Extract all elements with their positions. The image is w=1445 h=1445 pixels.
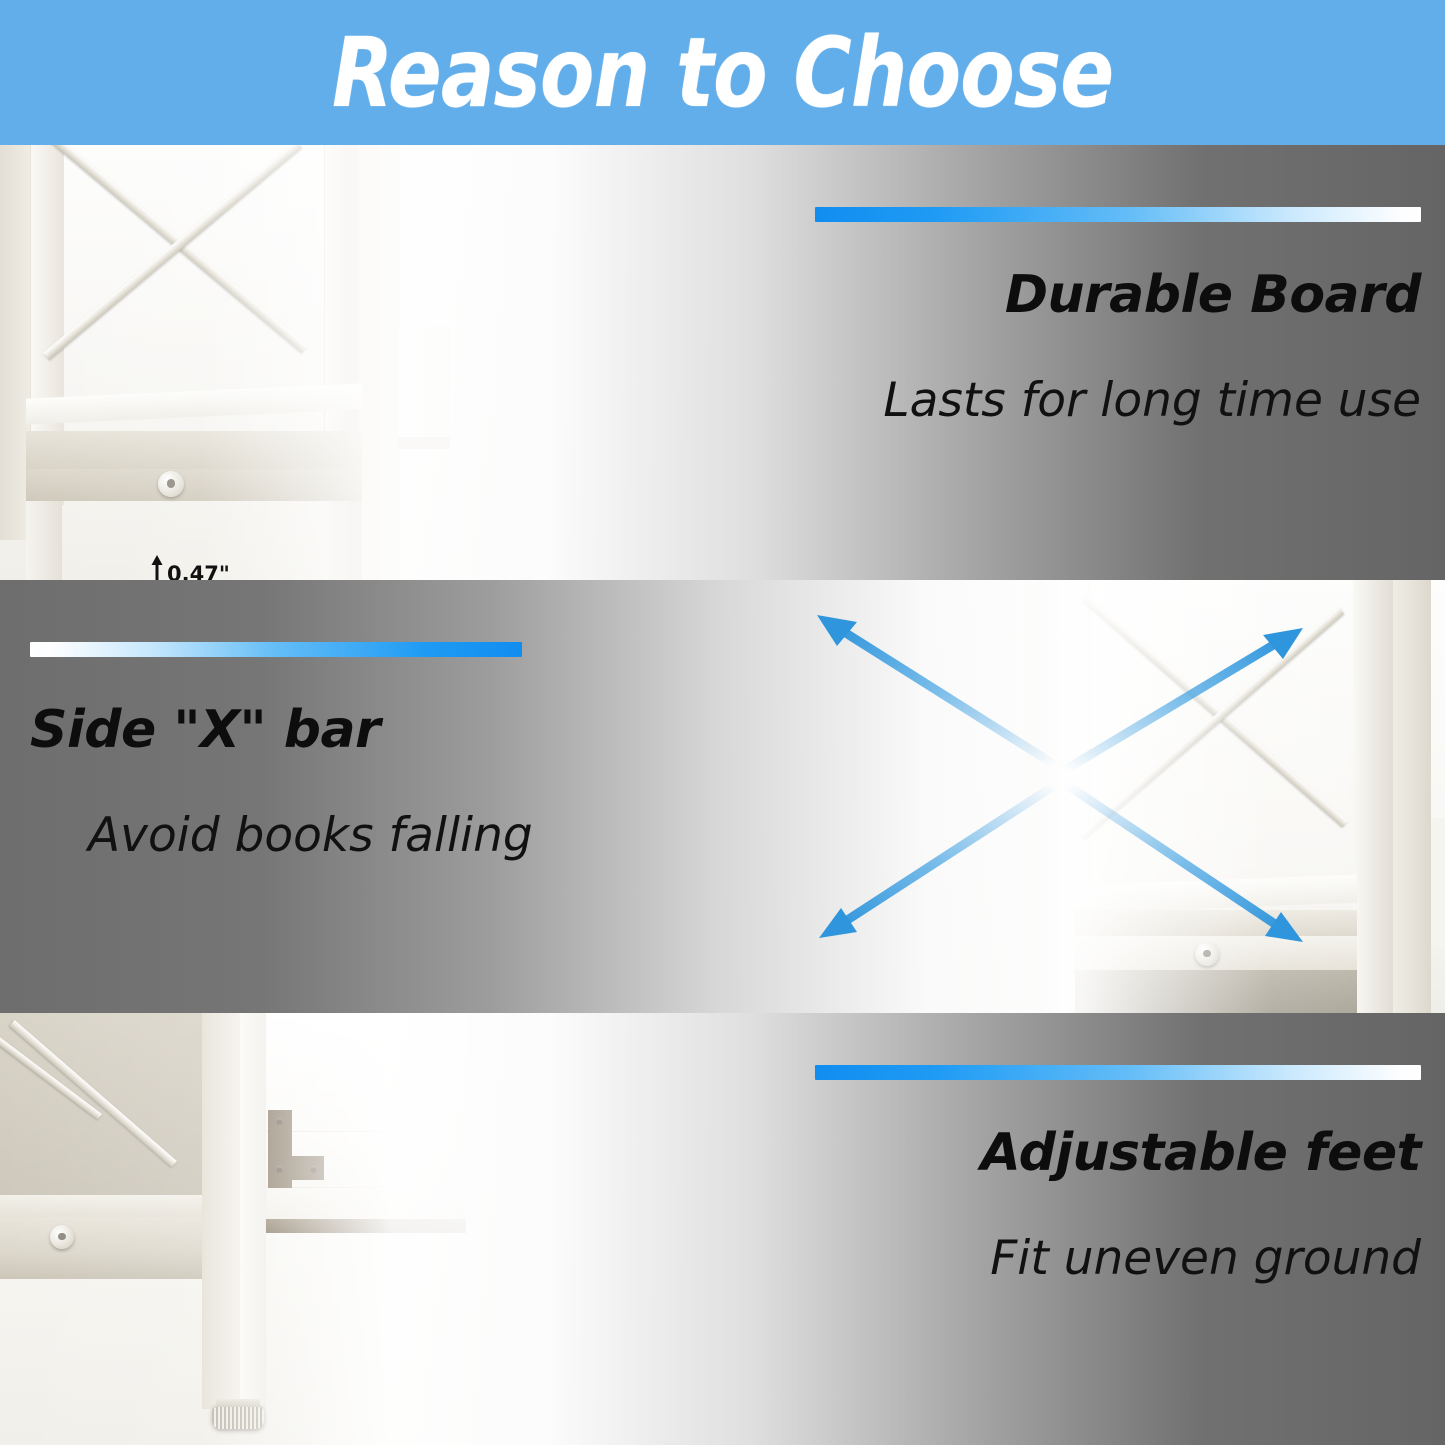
feature-subtitle-2: Avoid books falling — [30, 810, 640, 862]
foot-collar — [216, 1399, 260, 1407]
accent-bar-2 — [30, 642, 522, 657]
product-feature-infographic: Reason to Choose — [0, 0, 1445, 1445]
shelf-side-shadow — [398, 437, 450, 449]
shelf-knob-icon — [158, 471, 184, 497]
leg-front-right-face — [240, 1013, 266, 1409]
feature-text-block-2: Side "X" bar Avoid books falling — [0, 642, 640, 861]
header-banner: Reason to Choose — [0, 0, 1445, 145]
accent-bar-1 — [815, 207, 1421, 222]
shelf-post-right — [358, 145, 400, 580]
rail-knob-icon — [50, 1225, 74, 1249]
shelf-board-edge — [26, 431, 362, 469]
product-photo-side-x-bar — [725, 580, 1445, 1013]
x-post-right-inner — [1353, 580, 1393, 1013]
shelf-board-underside — [26, 469, 362, 501]
shelf-leg-left — [26, 501, 62, 580]
adjustable-foot-icon — [212, 1405, 264, 1429]
x-post-right — [1393, 580, 1431, 1013]
x-shelf-knob-icon — [1195, 942, 1219, 966]
bottom-rail-shadow — [0, 1253, 220, 1279]
feature-subtitle-3: Fit uneven ground — [805, 1233, 1421, 1285]
x-side-panel — [1431, 818, 1445, 948]
feature-title-2: Side "X" bar — [30, 703, 640, 758]
feature-subtitle-1: Lasts for long time use — [805, 375, 1421, 427]
bracket-screw-corner — [276, 1166, 283, 1173]
side-panel-lower — [266, 1187, 466, 1219]
shelf-side-panel — [398, 325, 450, 437]
page-title: Reason to Choose — [332, 25, 1113, 121]
x-shelf-shadow — [1075, 970, 1357, 1013]
feature-title-3: Adjustable feet — [805, 1126, 1421, 1181]
feature-panel-durable-board: 0.47" Durable Board Lasts for long time … — [0, 145, 1445, 580]
base-strip — [266, 1219, 466, 1233]
feature-panel-adjustable-feet: Adjustable feet Fit uneven ground — [0, 1013, 1445, 1445]
x-post-left — [1025, 580, 1069, 1013]
feature-panel-side-x-bar: Side "X" bar Avoid books falling — [0, 580, 1445, 1013]
feature-title-1: Durable Board — [805, 268, 1421, 323]
accent-bar-3 — [815, 1065, 1421, 1080]
bracket-screw-top — [276, 1118, 283, 1125]
product-photo-adjustable-feet — [0, 1013, 720, 1445]
feature-text-block-1: Durable Board Lasts for long time use — [805, 207, 1445, 426]
side-panel-upper — [266, 1013, 466, 1131]
leg-front-left-face — [202, 1013, 240, 1409]
bottom-rail-top — [0, 1195, 220, 1217]
x-shelf-edge — [1075, 910, 1357, 936]
dimension-label: 0.47" — [167, 562, 230, 580]
bottom-rail-face — [0, 1217, 220, 1253]
feature-text-block-3: Adjustable feet Fit uneven ground — [805, 1065, 1445, 1284]
bracket-screw-right — [310, 1166, 317, 1173]
product-photo-durable-board: 0.47" — [0, 145, 720, 580]
